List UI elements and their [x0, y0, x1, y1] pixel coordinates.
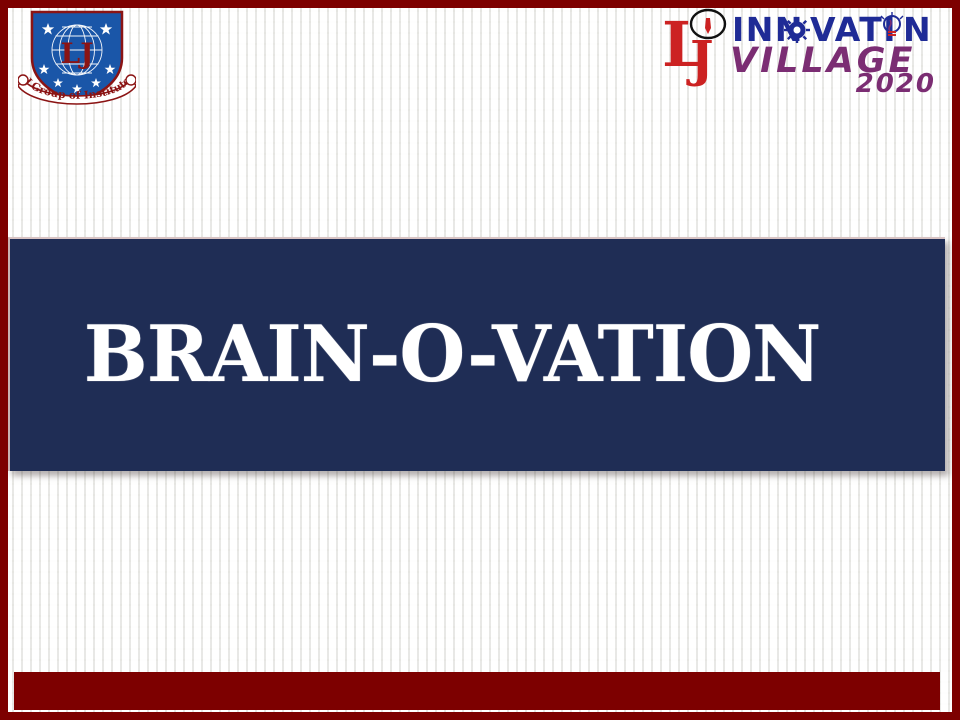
shield-monogram: LJ: [61, 37, 94, 70]
sun-burst-icon: [784, 17, 810, 43]
bottom-accent-bar: [14, 672, 940, 710]
lj-group-shield-logo: LJ LJ Group of Institutes: [18, 6, 136, 110]
ribbon-curl-right: [126, 75, 136, 85]
page-title: BRAIN-O-VATION: [10, 316, 820, 394]
event-logo-line3: 2020: [856, 69, 936, 94]
ribbon-curl-left: [18, 75, 28, 85]
innovation-village-2020-logo: L J INN VATI: [660, 4, 942, 94]
presentation-slide: LJ LJ Group of Institutes: [0, 0, 960, 720]
title-banner: BRAIN-O-VATION: [8, 237, 945, 471]
